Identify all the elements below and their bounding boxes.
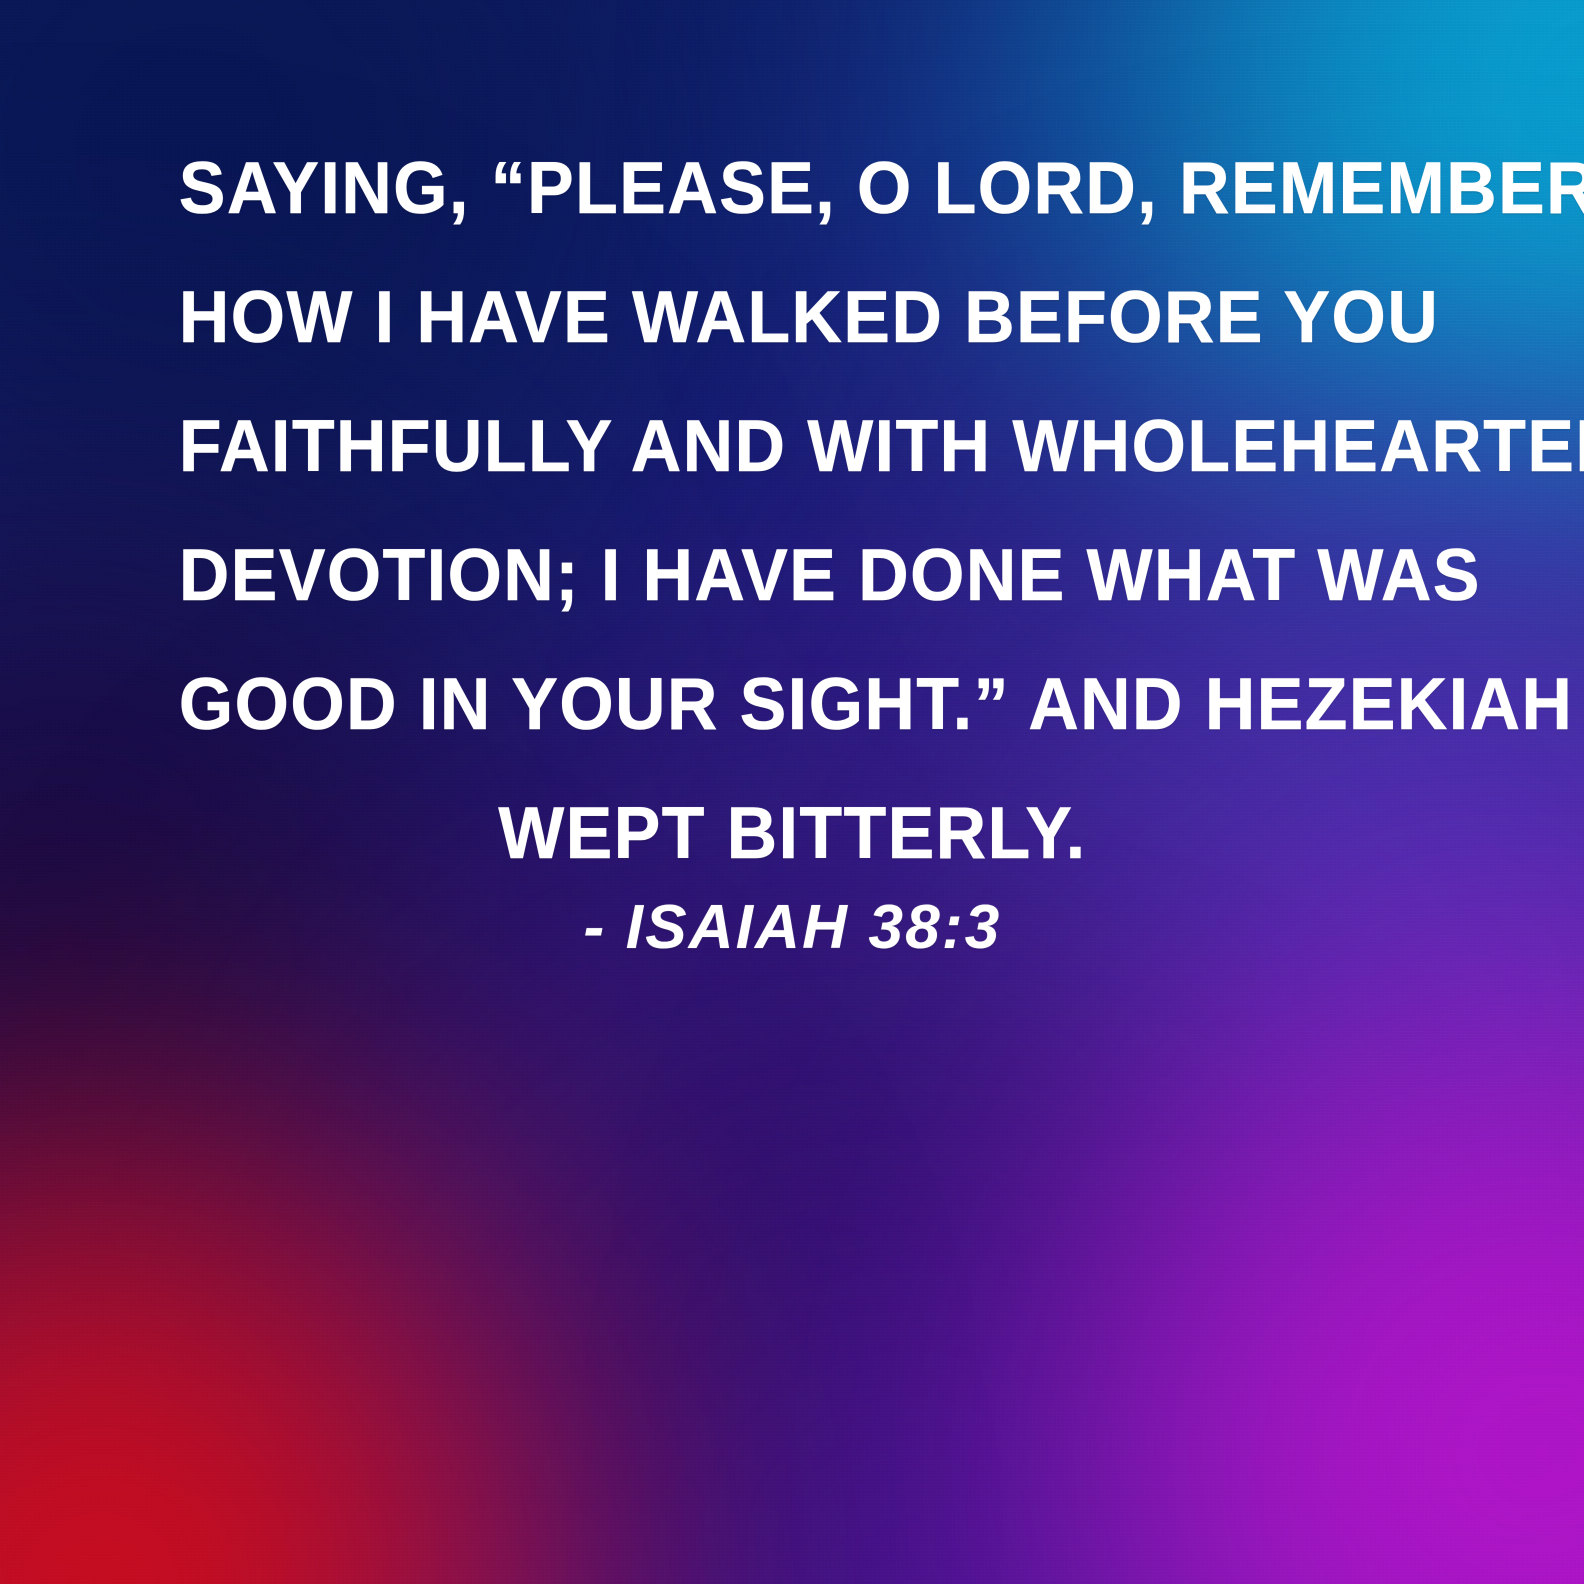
verse-line: wept bitterly. <box>179 769 1406 898</box>
verse-line: how I have walked before You <box>179 253 1406 382</box>
verse-line: faithfully and with wholehearted <box>179 382 1406 511</box>
verse-image-canvas: Saying, “Please, O LORD, remember how I … <box>0 0 1584 1584</box>
verse-attribution: - Isaiah 38:3 <box>150 885 1435 971</box>
verse-line: good in Your sight.” And Hezekiah <box>179 640 1406 769</box>
verse-text-block: Saying, “Please, O LORD, remember how I … <box>150 124 1435 898</box>
verse-line: devotion; I have done what was <box>179 511 1406 640</box>
verse-line: Saying, “Please, O LORD, remember <box>179 124 1406 253</box>
